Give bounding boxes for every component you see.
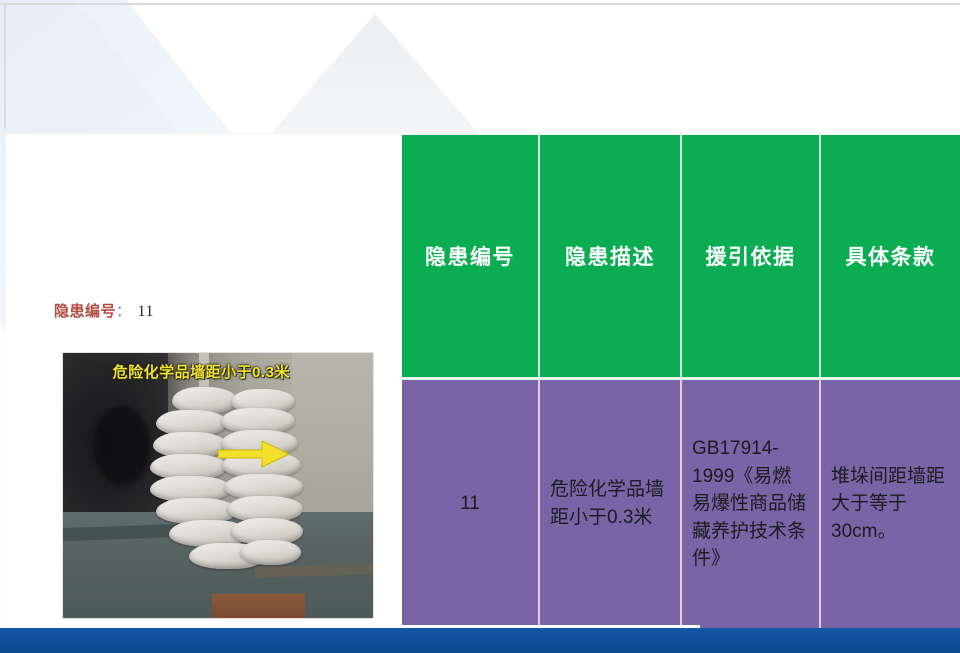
- cell-citation-basis: GB17914-1999《易燃易爆性商品储藏养护技术条件》: [682, 380, 821, 628]
- hazard-number-value: 11: [132, 303, 154, 320]
- table-header-specific-clause: 具体条款: [821, 135, 960, 377]
- footer-bar: [0, 628, 960, 653]
- table-header-citation-basis: 援引依据: [682, 135, 821, 377]
- photo-wooden-pallet: [212, 594, 305, 618]
- table-row: 11 危险化学品墙距小于0.3米 GB17914-1999《易燃易爆性商品储藏养…: [402, 377, 960, 628]
- slide-canvas: 隐患编号：11: [0, 0, 960, 653]
- photo-dark-blob: [94, 406, 150, 486]
- table-header-row: 隐患编号 隐患描述 援引依据 具体条款: [402, 135, 960, 377]
- photo-sack: [240, 540, 301, 564]
- top-rule-line: [0, 3, 960, 5]
- right-arrow-icon: [218, 440, 290, 468]
- left-rule-line: [4, 3, 6, 129]
- hazard-table: 隐患编号 隐患描述 援引依据 具体条款 11 危险化学品墙距小于0.3米 GB1…: [402, 135, 960, 628]
- cell-specific-clause: 堆垛间距墙距大于等于30cm。: [821, 380, 960, 628]
- table-header-hazard-description: 隐患描述: [540, 135, 682, 377]
- document-panel: 隐患编号：11: [6, 134, 402, 631]
- cell-hazard-number: 11: [402, 380, 540, 628]
- hazard-number-label: 隐患编号: [54, 303, 116, 320]
- cell-hazard-description: 危险化学品墙距小于0.3米: [540, 380, 682, 628]
- hazard-number-line: 隐患编号：11: [54, 300, 154, 321]
- photo-sack-stack: [147, 387, 308, 588]
- hazard-number-colon: ：: [116, 303, 132, 320]
- table-header-hazard-number: 隐患编号: [402, 135, 540, 377]
- hazard-photo: 危险化学品墙距小于0.3米: [63, 353, 373, 618]
- photo-caption-text: 危险化学品墙距小于0.3米: [113, 361, 290, 382]
